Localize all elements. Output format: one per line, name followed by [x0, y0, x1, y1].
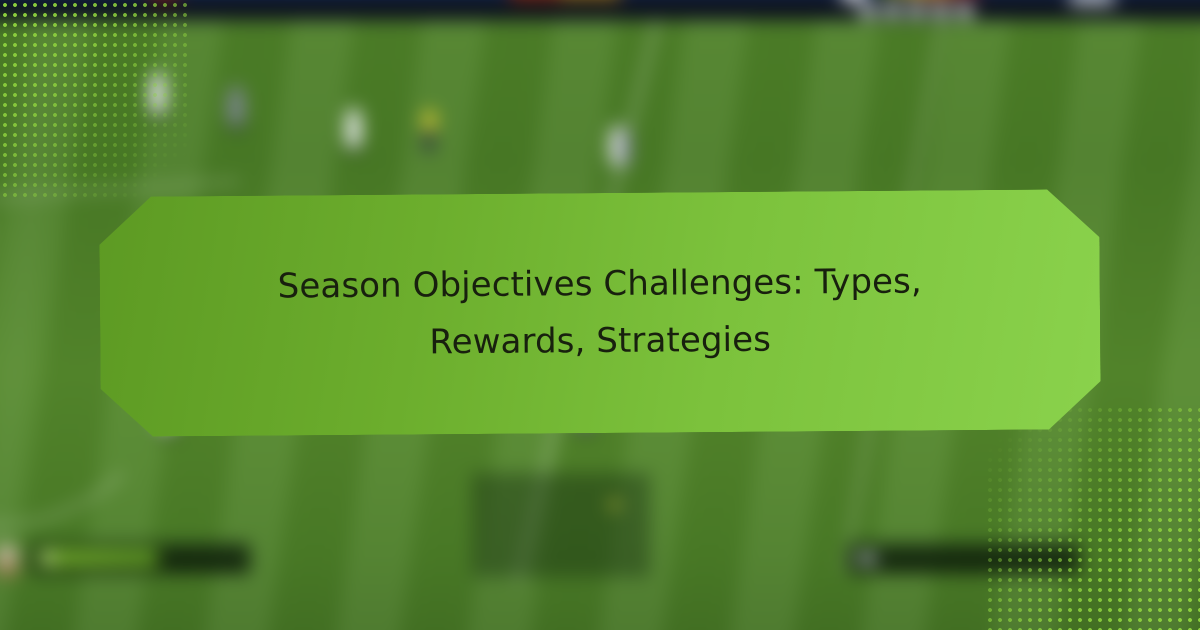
player-figure	[346, 108, 361, 150]
hud-chip-icon	[858, 553, 876, 564]
title-card-panel: Season Objectives Challenges: Types, Rew…	[99, 189, 1101, 437]
clock-plate	[1070, 0, 1114, 6]
share-card-canvas: Season Objectives Challenges: Types, Rew…	[0, 0, 1200, 630]
player-figure	[423, 110, 436, 132]
player-figure	[228, 86, 244, 128]
hud-progress-fill	[38, 550, 158, 566]
halftone-dots-top-left	[0, 0, 190, 200]
hud-left-badge	[0, 546, 18, 576]
player-shadow	[342, 146, 367, 155]
hud-bar-left	[30, 543, 250, 573]
title-card: Season Objectives Challenges: Types, Rew…	[99, 189, 1101, 437]
substitution-indicator	[884, 2, 901, 19]
player-figure	[424, 130, 434, 152]
halftone-dots-bottom-right	[985, 405, 1200, 630]
substitution-indicator	[932, 2, 949, 19]
minimap-radar	[472, 473, 650, 577]
page-title: Season Objectives Challenges: Types, Rew…	[220, 253, 981, 373]
hud-status-dot	[42, 552, 54, 564]
substitution-indicator	[956, 2, 973, 19]
player-figure	[620, 128, 631, 166]
substitution-indicator	[908, 2, 925, 19]
substitution-indicator	[860, 2, 877, 19]
minimap-ball-marker	[610, 500, 619, 509]
player-shadow	[224, 124, 250, 133]
